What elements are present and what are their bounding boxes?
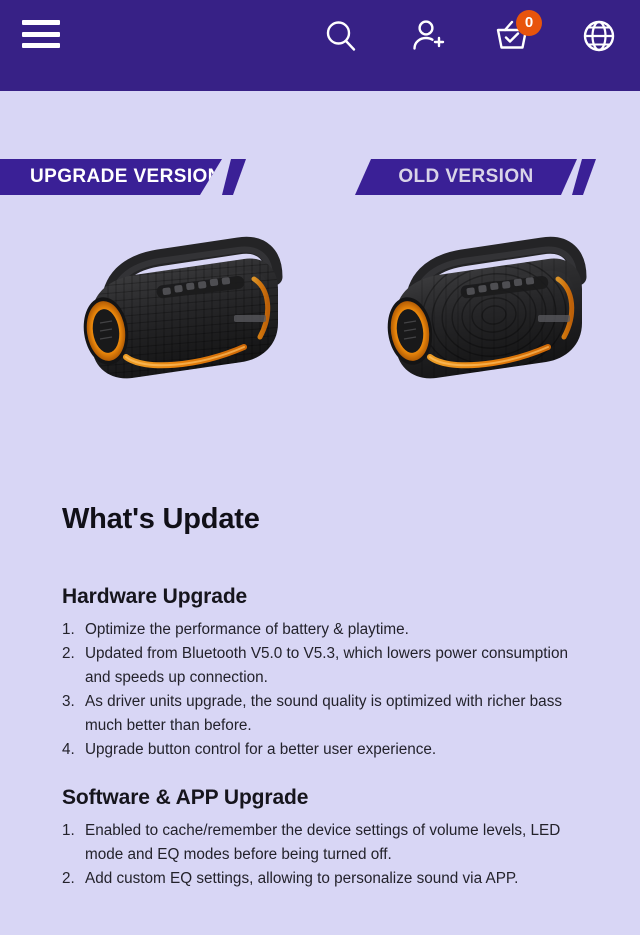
product-comparison-images — [0, 219, 640, 429]
hardware-upgrade-list: Optimize the performance of battery & pl… — [62, 618, 578, 762]
hamburger-menu-icon[interactable] — [22, 20, 60, 48]
add-user-icon[interactable] — [408, 16, 446, 56]
upgrade-banner-stripe — [222, 159, 246, 195]
page-title: What's Update — [62, 503, 578, 536]
section-hardware-upgrade: Hardware Upgrade Optimize the performanc… — [62, 585, 578, 762]
shopping-basket-check-icon[interactable]: 0 — [494, 16, 532, 56]
upgrade-version-banner: UPGRADE VERSION — [0, 159, 222, 195]
section-heading: Software & APP Upgrade — [62, 786, 578, 810]
hamburger-bar — [22, 43, 60, 48]
software-upgrade-list: Enabled to cache/remember the device set… — [62, 819, 578, 891]
cart-count-badge: 0 — [516, 10, 542, 36]
whats-update-content: What's Update Hardware Upgrade Optimize … — [0, 429, 640, 891]
globe-icon[interactable] — [580, 16, 618, 56]
old-version-label: OLD VERSION — [398, 166, 533, 188]
hamburger-bar — [22, 20, 60, 25]
search-icon[interactable] — [322, 16, 360, 56]
section-software-app-upgrade: Software & APP Upgrade Enabled to cache/… — [62, 786, 578, 891]
upgrade-version-label: UPGRADE VERSION — [30, 166, 222, 188]
list-item: Optimize the performance of battery & pl… — [62, 618, 578, 642]
hamburger-bar — [22, 32, 60, 37]
header-actions: 0 — [322, 16, 618, 56]
app-header: 0 — [0, 0, 640, 91]
section-heading: Hardware Upgrade — [62, 585, 578, 609]
list-item: Updated from Bluetooth V5.0 to V5.3, whi… — [62, 642, 578, 690]
list-item: Add custom EQ settings, allowing to pers… — [62, 867, 578, 891]
list-item: As driver units upgrade, the sound quali… — [62, 690, 578, 738]
old-version-banner: OLD VERSION — [355, 159, 577, 195]
old-version-speaker-image — [352, 219, 602, 419]
version-banner-row: UPGRADE VERSION OLD VERSION — [0, 145, 640, 207]
list-item: Enabled to cache/remember the device set… — [62, 819, 578, 867]
list-item: Upgrade button control for a better user… — [62, 738, 578, 762]
upgrade-version-speaker-image — [48, 219, 298, 419]
old-banner-stripe — [572, 159, 596, 195]
